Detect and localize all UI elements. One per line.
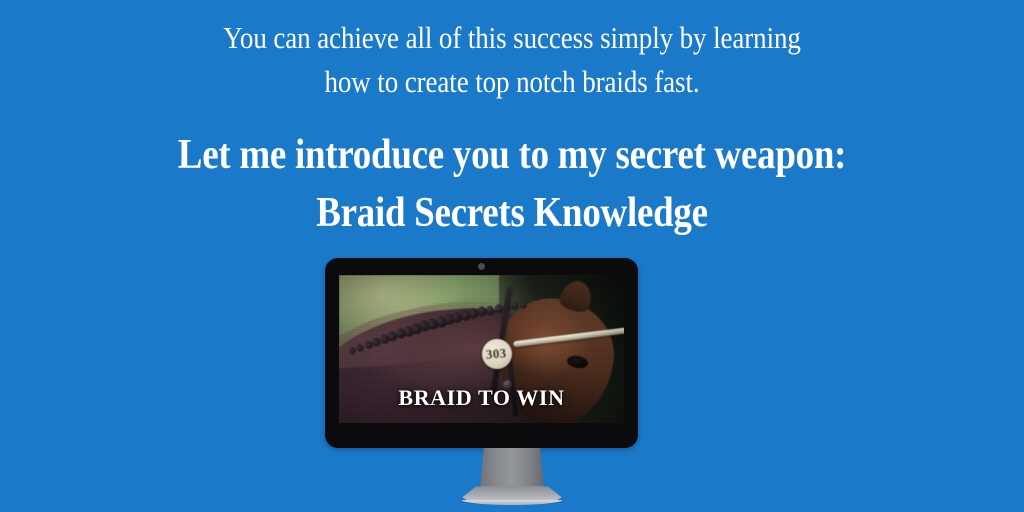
competitor-number-text: 303 — [486, 345, 507, 362]
headline-line-2: Braid Secrets Knowledge — [61, 184, 962, 242]
subheadline-line-2: how to create top notch braids fast. — [67, 60, 958, 104]
headline-line-1: Let me introduce you to my secret weapon… — [61, 126, 962, 184]
monitor-stand-base-edge — [462, 500, 562, 505]
mane-braid-knob — [511, 302, 519, 311]
monitor-stand-neck — [480, 448, 544, 490]
mane-braid-knob — [519, 301, 526, 309]
subheadline: You can achieve all of this success simp… — [67, 16, 958, 104]
monitor-screen: 303 BRAID TO WIN — [339, 275, 624, 423]
mane-braid-knob — [485, 305, 495, 316]
competitor-number-tag: 303 — [482, 339, 512, 369]
monitor-mockup: 303 BRAID TO WIN — [325, 258, 638, 448]
screen-caption: BRAID TO WIN — [339, 385, 624, 411]
subheadline-line-1: You can achieve all of this success simp… — [67, 16, 958, 60]
webcam-dot-icon — [479, 264, 484, 269]
headline: Let me introduce you to my secret weapon… — [61, 126, 962, 242]
mane-braid-knob — [493, 304, 503, 314]
promo-graphic: You can achieve all of this success simp… — [0, 0, 1024, 512]
